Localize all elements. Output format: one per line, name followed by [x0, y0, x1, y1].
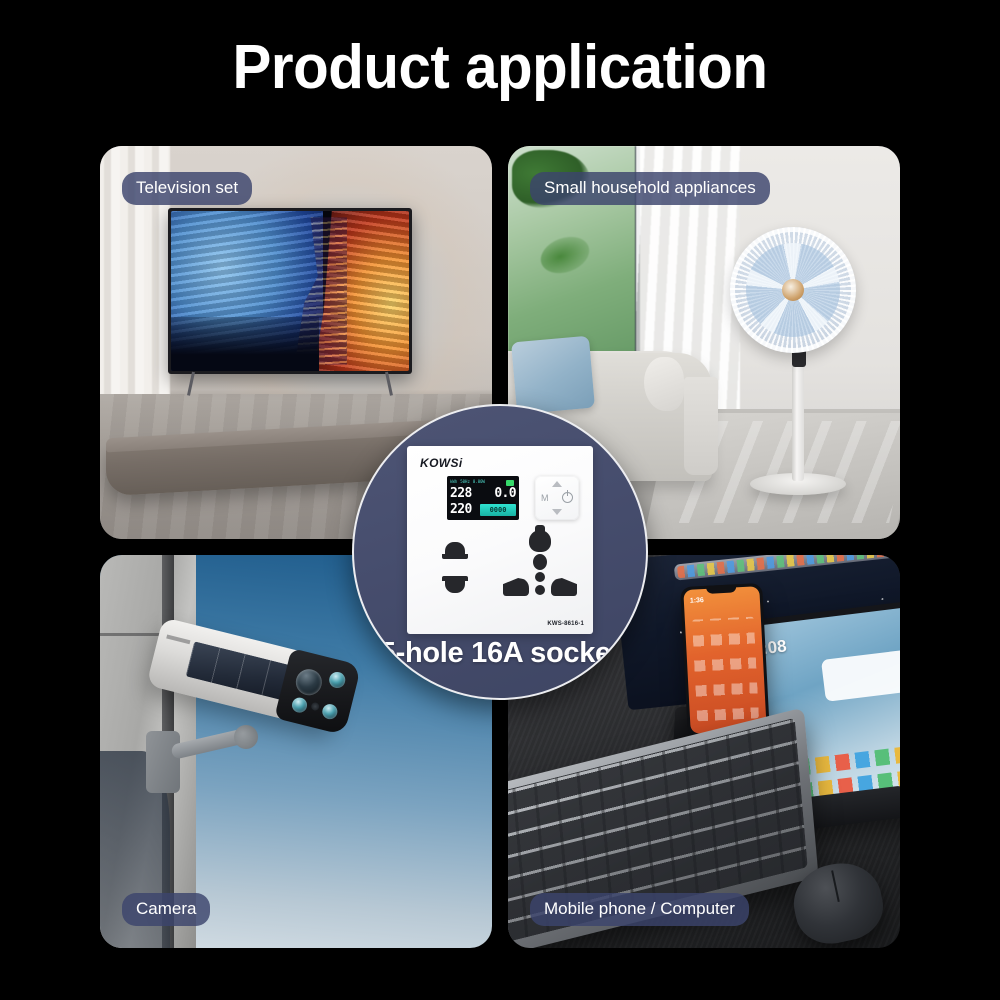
blue-cushion [511, 336, 595, 415]
badge-mobile-phone-computer: Mobile phone / Computer [530, 893, 749, 926]
chevron-up-icon[interactable] [552, 481, 562, 487]
badge-small-household-appliances: Small household appliances [530, 172, 770, 205]
universal-hole-mid [533, 554, 547, 570]
lcd-display: kWh 50Hz 0.00W 228 0.0 220 0000 [447, 476, 519, 520]
lcd-energy-bar: 0000 [480, 504, 516, 516]
universal-hole-dot-lower [535, 585, 545, 595]
camera-swivel-joint [234, 725, 258, 749]
product-application-graphic: Product application [0, 0, 1000, 1000]
plant-leaf-secondary [536, 230, 595, 279]
product-callout-circle[interactable]: KOWSi kWh 50Hz 0.00W 228 0.0 220 0000 [352, 404, 648, 700]
socket-faceplate: KOWSi kWh 50Hz 0.00W 228 0.0 220 0000 [407, 446, 593, 634]
television [168, 208, 412, 374]
mode-button[interactable]: M [541, 493, 549, 503]
fan-hub [782, 279, 804, 301]
page-title: Product application [30, 32, 970, 103]
tv-screen-artwork [171, 211, 409, 371]
ir-led-1 [328, 670, 347, 689]
chevron-down-icon[interactable] [552, 509, 562, 515]
artwork-shadow [171, 317, 319, 371]
callout-caption: 5-hole 16A socket [354, 637, 646, 670]
badge-television-set: Television set [122, 172, 252, 205]
pedestal-fan-head [730, 227, 856, 353]
lcd-tag-hz: 50Hz [460, 480, 470, 484]
camera-wall-bracket [146, 731, 180, 793]
lcd-voltage-secondary: 220 [450, 503, 472, 516]
tablet-widget-card [821, 649, 900, 702]
main-lens [293, 666, 325, 698]
brand-logo: KOWSi [420, 456, 463, 470]
universal-hole-right [551, 578, 577, 596]
universal-hole-top [529, 530, 551, 552]
side-table [684, 377, 718, 475]
socket-hole-two-pin-top [445, 542, 465, 559]
phone-screen: 1:36 [683, 586, 766, 734]
camera-brand-mark [166, 635, 190, 645]
control-pad[interactable]: M [535, 476, 579, 520]
universal-hole-dot-upper [535, 572, 545, 582]
badge-camera: Camera [122, 893, 210, 926]
tv-bezel [168, 208, 412, 374]
model-number: KWS-8616-1 [547, 621, 584, 627]
tv-screen [171, 211, 409, 371]
lcd-row-secondary: 220 0000 [450, 502, 516, 517]
lcd-tag-kwh: kWh [450, 480, 457, 484]
ir-led-3 [321, 703, 339, 721]
lcd-tag-row: kWh 50Hz 0.00W [450, 478, 516, 485]
lcd-row-primary: 228 0.0 [450, 486, 516, 501]
power-icon[interactable] [562, 492, 573, 503]
smartphone: 1:36 [680, 583, 770, 737]
ir-led-2 [290, 696, 308, 714]
light-sensor [310, 702, 320, 712]
mouse-button-split [831, 870, 840, 902]
lcd-current: 0.0 [494, 487, 516, 500]
phone-app-grid [692, 616, 759, 721]
socket-hole-two-pin-bottom [445, 576, 465, 593]
universal-hole-left [503, 578, 529, 596]
lcd-tag-watt: 0.00W [473, 480, 485, 484]
phone-clock: 1:36 [690, 597, 704, 605]
decorative-statue [644, 357, 684, 411]
lcd-voltage-primary: 228 [450, 487, 472, 500]
socket-hole-universal [503, 530, 577, 608]
